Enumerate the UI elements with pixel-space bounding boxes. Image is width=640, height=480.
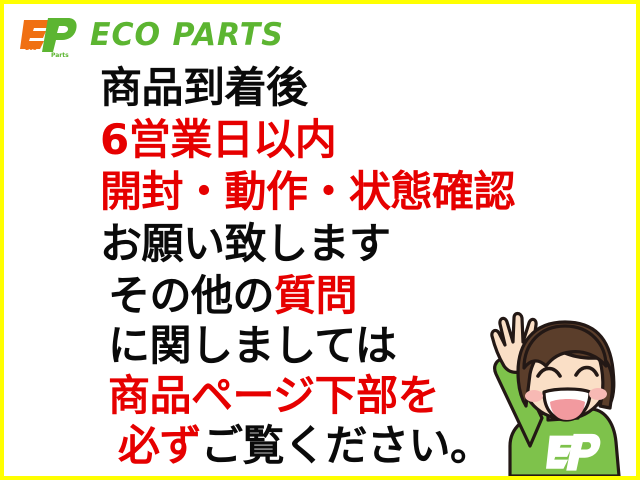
brand-header: Eco Parts ECO PARTS [18, 12, 290, 58]
eco-parts-logo-icon: Eco Parts [18, 12, 80, 58]
question-line-4-red: 必ず [118, 421, 201, 470]
notice-line-1: 商品到着後 [100, 62, 515, 114]
svg-text:Parts: Parts [51, 52, 69, 58]
questions-instructions-block: その他の質問 に関しましては 商品ページ下部を 必ずご覧ください。 [108, 271, 492, 471]
question-line-4: 必ずご覧ください。 [108, 421, 492, 471]
question-line-1: その他の質問 [108, 271, 492, 321]
question-line-2: に関しましては [108, 321, 492, 371]
svg-text:Eco: Eco [25, 45, 37, 52]
notice-line-4: お願い致します [100, 218, 515, 270]
notice-line-3: 開封・動作・状態確認 [100, 166, 515, 218]
question-line-3: 商品ページ下部を [108, 371, 492, 421]
notice-line-2: 6営業日以内 [100, 114, 515, 166]
question-line-1-black: その他の [108, 271, 274, 320]
arrival-instructions-block: 商品到着後 6営業日以内 開封・動作・状態確認 お願い致します [100, 62, 515, 270]
waving-woman-mascot-icon [438, 296, 628, 476]
question-line-1-red: 質問 [274, 271, 357, 320]
eco-parts-notice-banner: Eco Parts ECO PARTS 商品到着後 6営業日以内 開封・動作・状… [0, 0, 640, 480]
brand-wordmark: ECO PARTS [90, 20, 284, 51]
